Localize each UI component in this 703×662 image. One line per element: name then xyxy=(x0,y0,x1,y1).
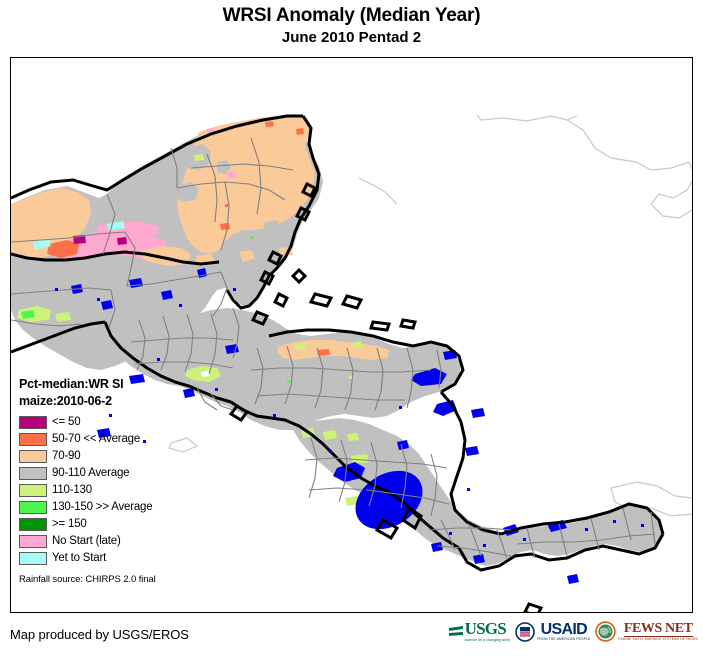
usaid-tagline: FROM THE AMERICAN PEOPLE xyxy=(537,637,590,642)
usgs-wordmark: USGS xyxy=(465,620,506,637)
legend-swatch-8 xyxy=(19,552,47,565)
legend-item: <= 50 xyxy=(19,414,199,430)
legend-item: 70-90 xyxy=(19,448,199,464)
legend-swatch-1 xyxy=(19,433,47,446)
legend-item: 50-70 << Average xyxy=(19,431,199,447)
usgs-logo[interactable]: USGS science for a changing world xyxy=(448,620,511,643)
legend-title-line2: maize:2010-06-2 xyxy=(19,393,199,410)
legend-item: Yet to Start xyxy=(19,550,199,566)
legend-item: 130-150 >> Average xyxy=(19,499,199,515)
legend-item: 90-110 Average xyxy=(19,465,199,481)
legend-swatch-0 xyxy=(19,416,47,429)
legend-label-4: 110-130 xyxy=(52,484,92,497)
legend-swatch-6 xyxy=(19,518,47,531)
legend-label-1: 50-70 << Average xyxy=(52,433,140,446)
legend-label-7: No Start (late) xyxy=(52,535,121,548)
legend-label-0: <= 50 xyxy=(52,416,80,429)
legend-label-2: 70-90 xyxy=(52,450,80,463)
usgs-tagline: science for a changing world xyxy=(465,638,511,643)
usaid-wordmark: USAID xyxy=(541,622,587,637)
legend-label-6: >= 150 xyxy=(52,518,87,531)
fews-globe-icon xyxy=(595,621,616,642)
page-title: WRSI Anomaly (Median Year) xyxy=(0,5,703,27)
fews-logo[interactable]: FEWS NET FAMINE EARLY WARNING SYSTEMS NE… xyxy=(595,621,698,642)
usaid-seal-icon xyxy=(515,622,535,642)
legend-item: >= 150 xyxy=(19,516,199,532)
map-legend: Pct-median:WR SI maize:2010-06-2 <= 50 5… xyxy=(19,376,199,585)
legend-item: No Start (late) xyxy=(19,533,199,549)
legend-label-5: 130-150 >> Average xyxy=(52,501,152,514)
legend-swatch-5 xyxy=(19,501,47,514)
fews-tagline: FAMINE EARLY WARNING SYSTEMS NETWORK xyxy=(618,637,698,642)
usgs-mark-icon xyxy=(448,624,465,640)
legend-label-8: Yet to Start xyxy=(52,552,106,565)
legend-item: 110-130 xyxy=(19,482,199,498)
legend-items: <= 50 50-70 << Average 70-90 90-110 Aver… xyxy=(19,414,199,566)
footer-credit-text: Map produced by USGS/EROS xyxy=(10,627,189,642)
legend-source-note: Rainfall source: CHIRPS 2.0 final xyxy=(19,574,199,585)
footer-bar: Map produced by USGS/EROS USGS science f… xyxy=(0,613,703,662)
legend-swatch-3 xyxy=(19,467,47,480)
legend-swatch-4 xyxy=(19,484,47,497)
legend-swatch-2 xyxy=(19,450,47,463)
legend-swatch-7 xyxy=(19,535,47,548)
legend-label-3: 90-110 Average xyxy=(52,467,129,480)
fews-wordmark: FEWS NET xyxy=(624,622,693,637)
legend-title-line1: Pct-median:WR SI xyxy=(19,376,199,393)
title-block: WRSI Anomaly (Median Year) June 2010 Pen… xyxy=(0,0,703,47)
map-frame[interactable]: Pct-median:WR SI maize:2010-06-2 <= 50 5… xyxy=(10,57,693,613)
page-subtitle: June 2010 Pentad 2 xyxy=(0,29,703,47)
usaid-logo[interactable]: USAID FROM THE AMERICAN PEOPLE xyxy=(515,622,590,642)
footer-logos: USGS science for a changing world USAID … xyxy=(448,620,698,643)
